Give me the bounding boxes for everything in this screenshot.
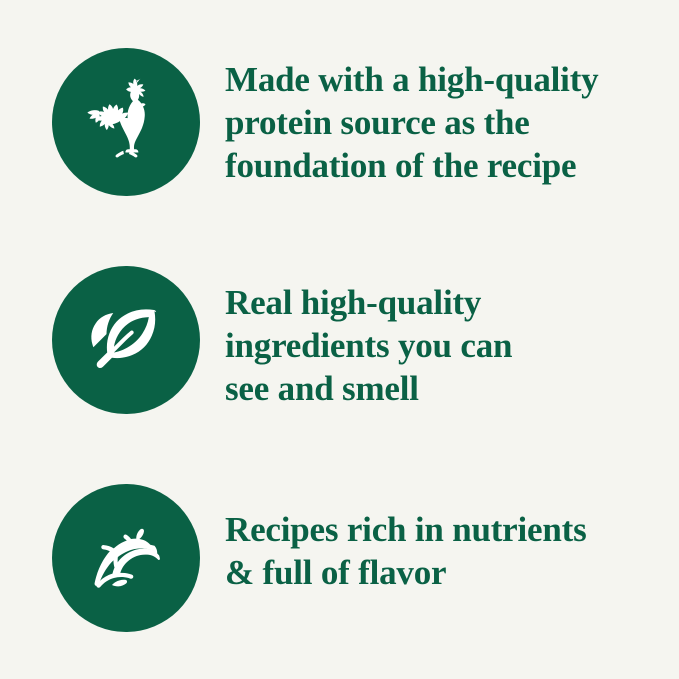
icon-badge-leaf <box>52 266 200 414</box>
feature-text: Made with a high-quality protein source … <box>225 48 655 187</box>
feature-text: Recipes rich in nutrients & full of flav… <box>225 484 655 594</box>
icon-badge-splash <box>52 484 200 632</box>
leaf-icon <box>77 291 175 389</box>
feature-item: Recipes rich in nutrients & full of flav… <box>0 484 679 632</box>
feature-item: Real high-quality ingredients you can se… <box>0 266 679 414</box>
feature-item: Made with a high-quality protein source … <box>0 48 679 196</box>
feature-text: Real high-quality ingredients you can se… <box>225 266 655 410</box>
icon-badge-rooster <box>52 48 200 196</box>
splash-icon <box>77 509 175 607</box>
feature-highlights-panel: Made with a high-quality protein source … <box>0 0 679 679</box>
rooster-icon <box>77 73 175 171</box>
